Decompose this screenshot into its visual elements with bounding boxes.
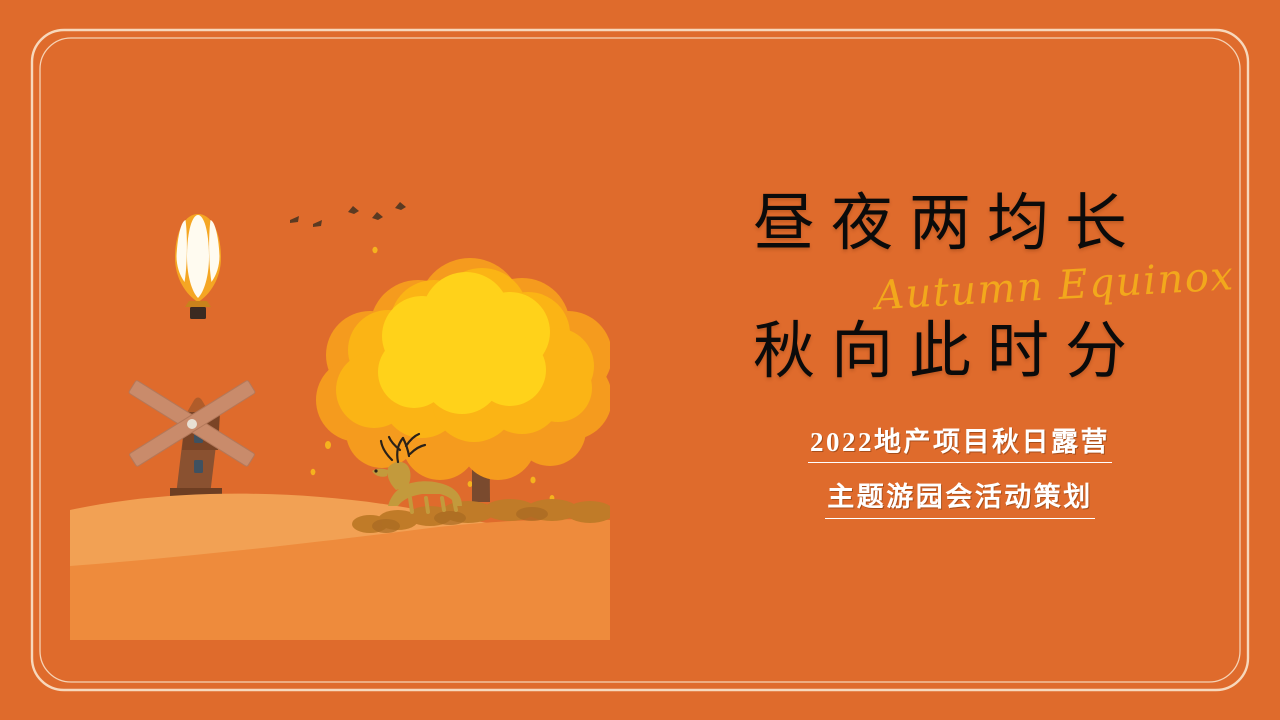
subtitle-line-1: 2022地产项目秋日露营 — [808, 428, 1112, 463]
slide-canvas: 昼夜两均长 Autumn Equinox 秋向此时分 2022地产项目秋日露营 … — [0, 0, 1280, 720]
title-line-1: 昼夜两均长 — [660, 192, 1220, 257]
subtitle-row-1: 2022地产项目秋日露营 — [710, 428, 1210, 463]
subtitle-row-2: 主题游园会活动策划 — [710, 483, 1210, 518]
subtitle-block: 2022地产项目秋日露营 主题游园会活动策划 — [710, 428, 1210, 539]
title-line-2: 秋向此时分 — [660, 320, 1220, 385]
subtitle-line-2: 主题游园会活动策划 — [825, 483, 1095, 518]
script-overlay-autumn-equinox: Autumn Equinox — [874, 255, 1206, 319]
autumn-landscape-illustration — [70, 150, 610, 640]
title-text-block: 昼夜两均长 Autumn Equinox 秋向此时分 2022地产项目秋日露营 … — [660, 160, 1240, 560]
